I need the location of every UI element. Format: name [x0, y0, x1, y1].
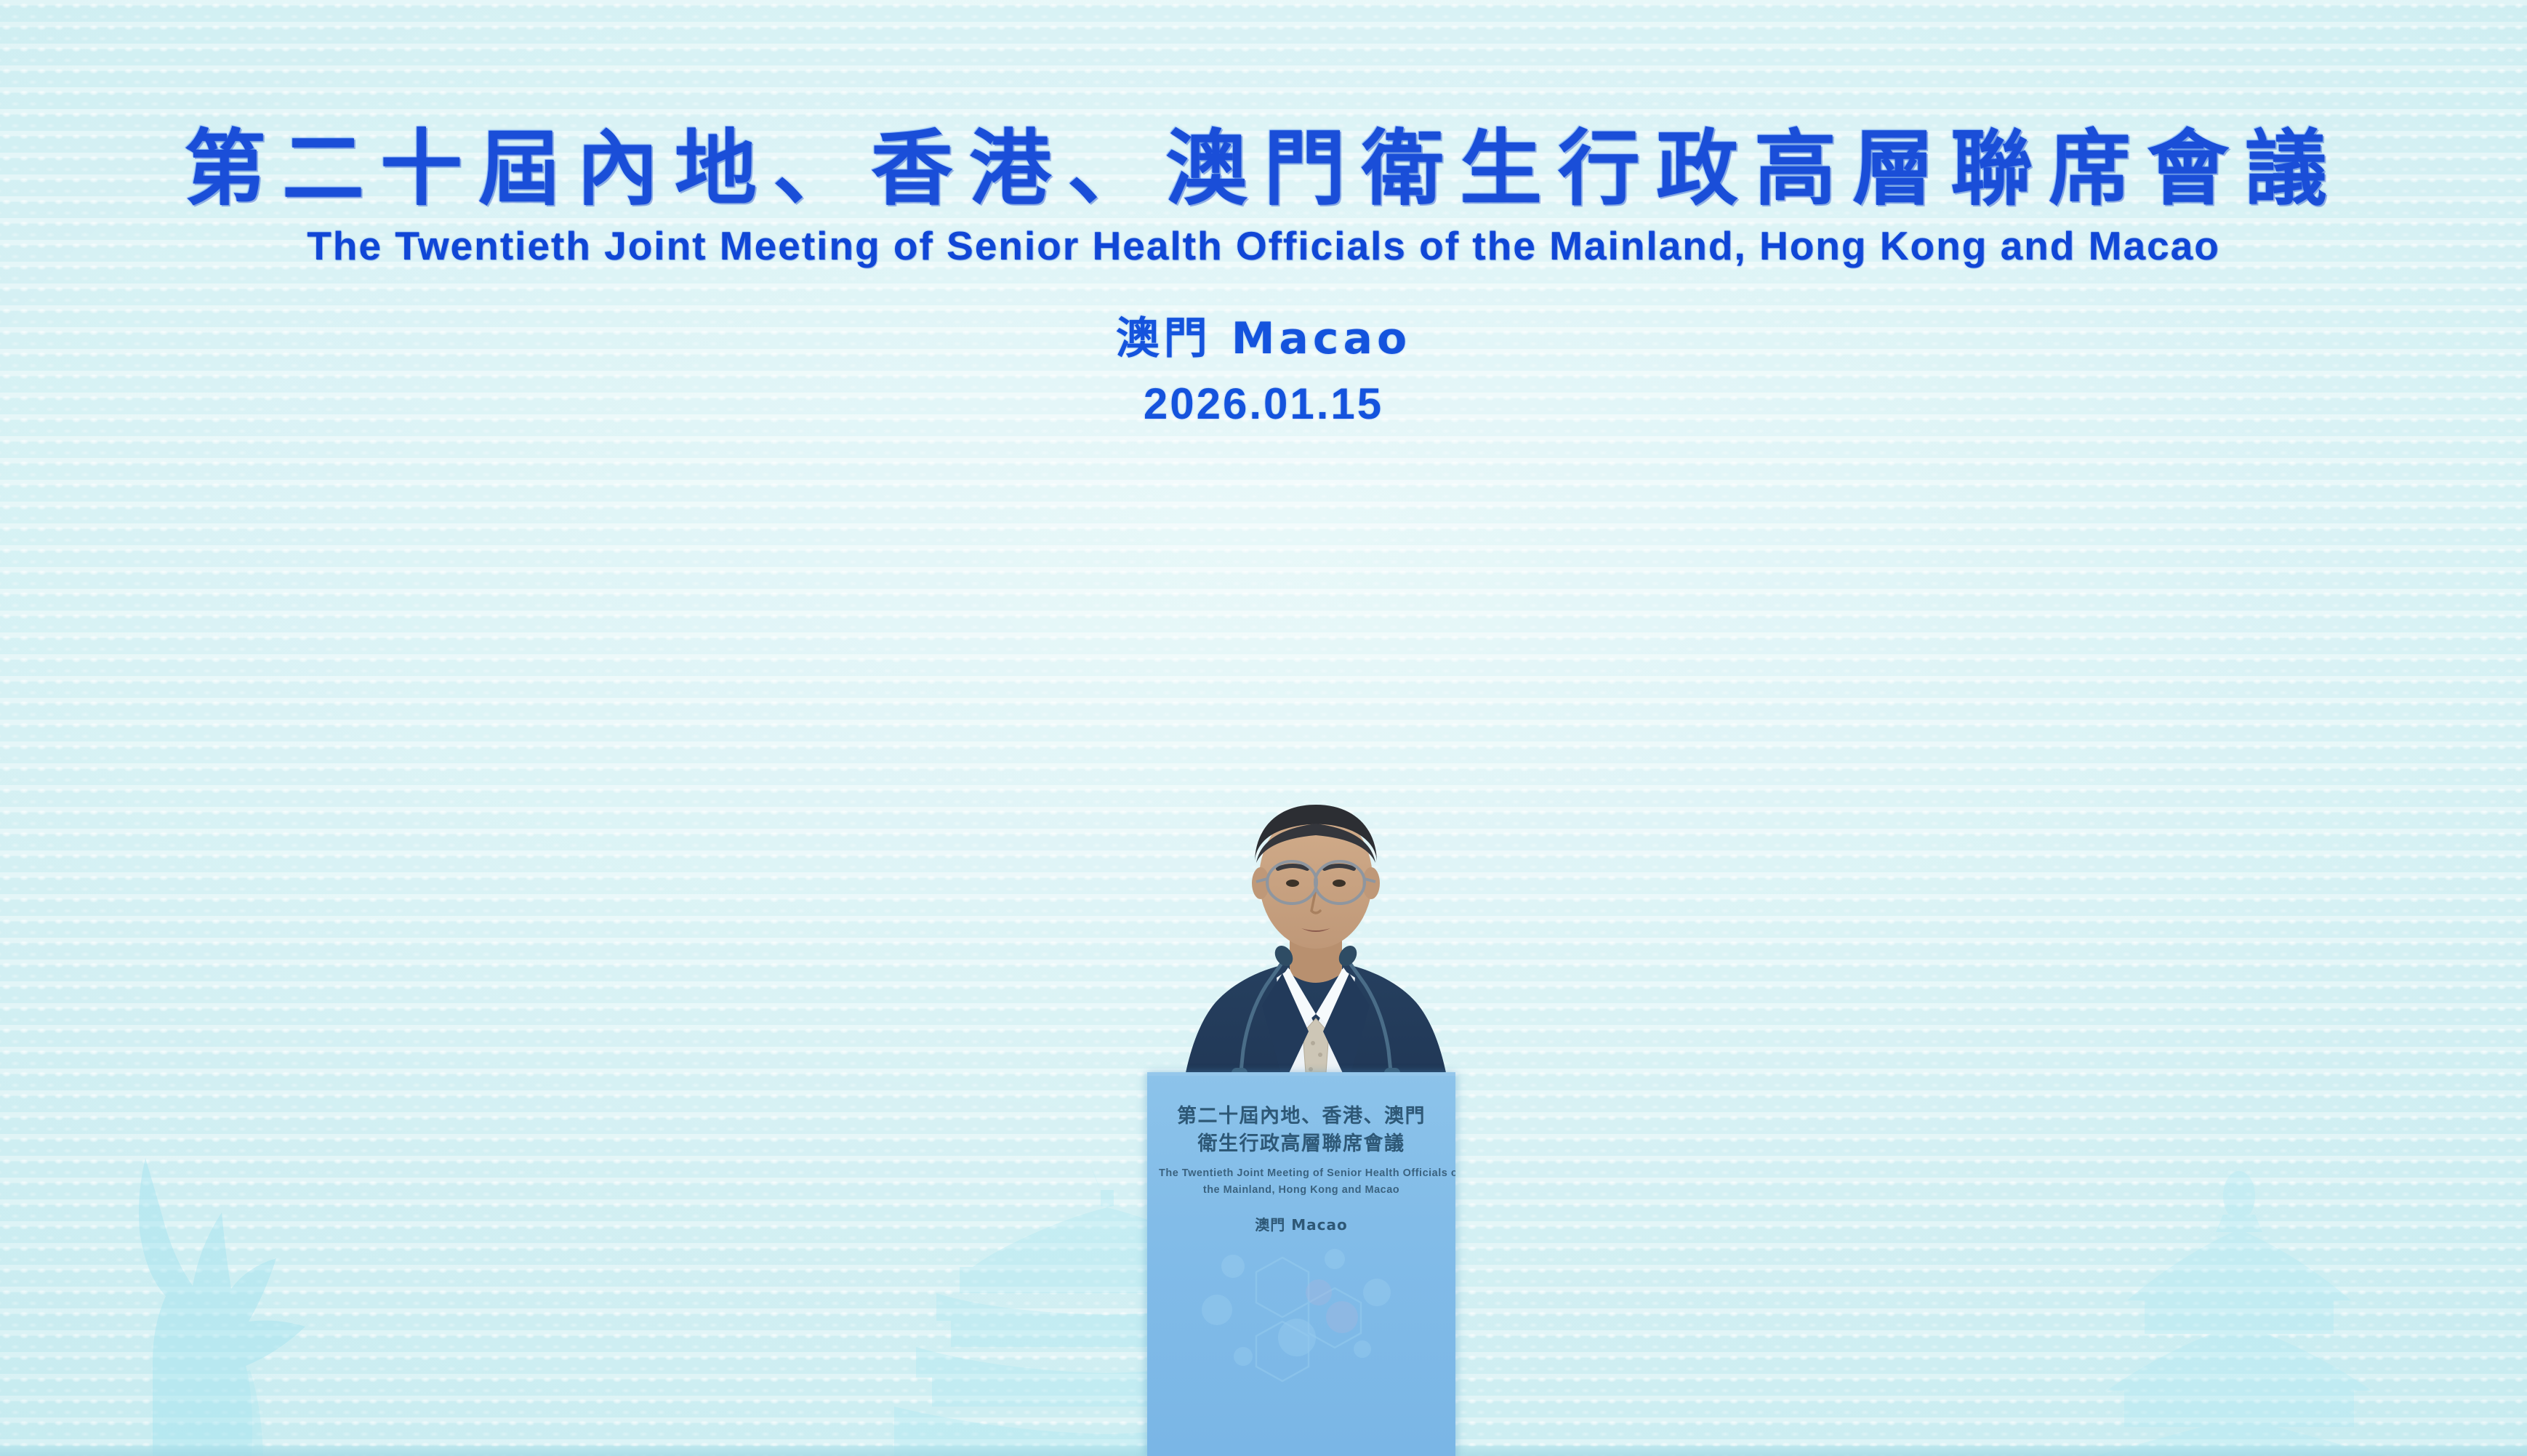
lectern-title-en-line1: The Twentieth Joint Meeting of Senior He…: [1159, 1165, 1444, 1182]
backdrop-title-block: 第二十屆內地、香港、澳門衛生行政高層聯席會議 The Twentieth Joi…: [0, 0, 2527, 426]
page-title-chinese: 第二十屆內地、香港、澳門衛生行政高層聯席會議: [0, 128, 2527, 210]
page-title-english: The Twentieth Joint Meeting of Senior He…: [0, 226, 2527, 266]
lotus-sculpture-silhouette: [44, 1143, 451, 1456]
pagoda-silhouette: [2057, 1151, 2523, 1456]
hexagon-molecule-watermark: [1147, 1228, 1455, 1417]
lectern-sign-text: 第二十屆內地、香港、澳門 衛生行政高層聯席會議 The Twentieth Jo…: [1147, 1103, 1455, 1234]
venue-date-text: 2026.01.15: [0, 382, 2527, 426]
lectern-title-en-line2: the Mainland, Hong Kong and Macao: [1159, 1182, 1444, 1199]
lectern-venue-text: 澳門 Macao: [1159, 1213, 1444, 1234]
lectern-title-cn-line1: 第二十屆內地、香港、澳門: [1159, 1103, 1444, 1130]
lectern-title-cn-line2: 衛生行政高層聯席會議: [1159, 1130, 1444, 1158]
lectern-top-edge: [1147, 1072, 1455, 1076]
lectern-panel: 第二十屆內地、香港、澳門 衛生行政高層聯席會議 The Twentieth Jo…: [1147, 1072, 1455, 1456]
conference-stage: 第二十屆內地、香港、澳門衛生行政高層聯席會議 The Twentieth Joi…: [0, 0, 2527, 1456]
venue-location-text: 澳門 Macao: [0, 317, 2527, 361]
